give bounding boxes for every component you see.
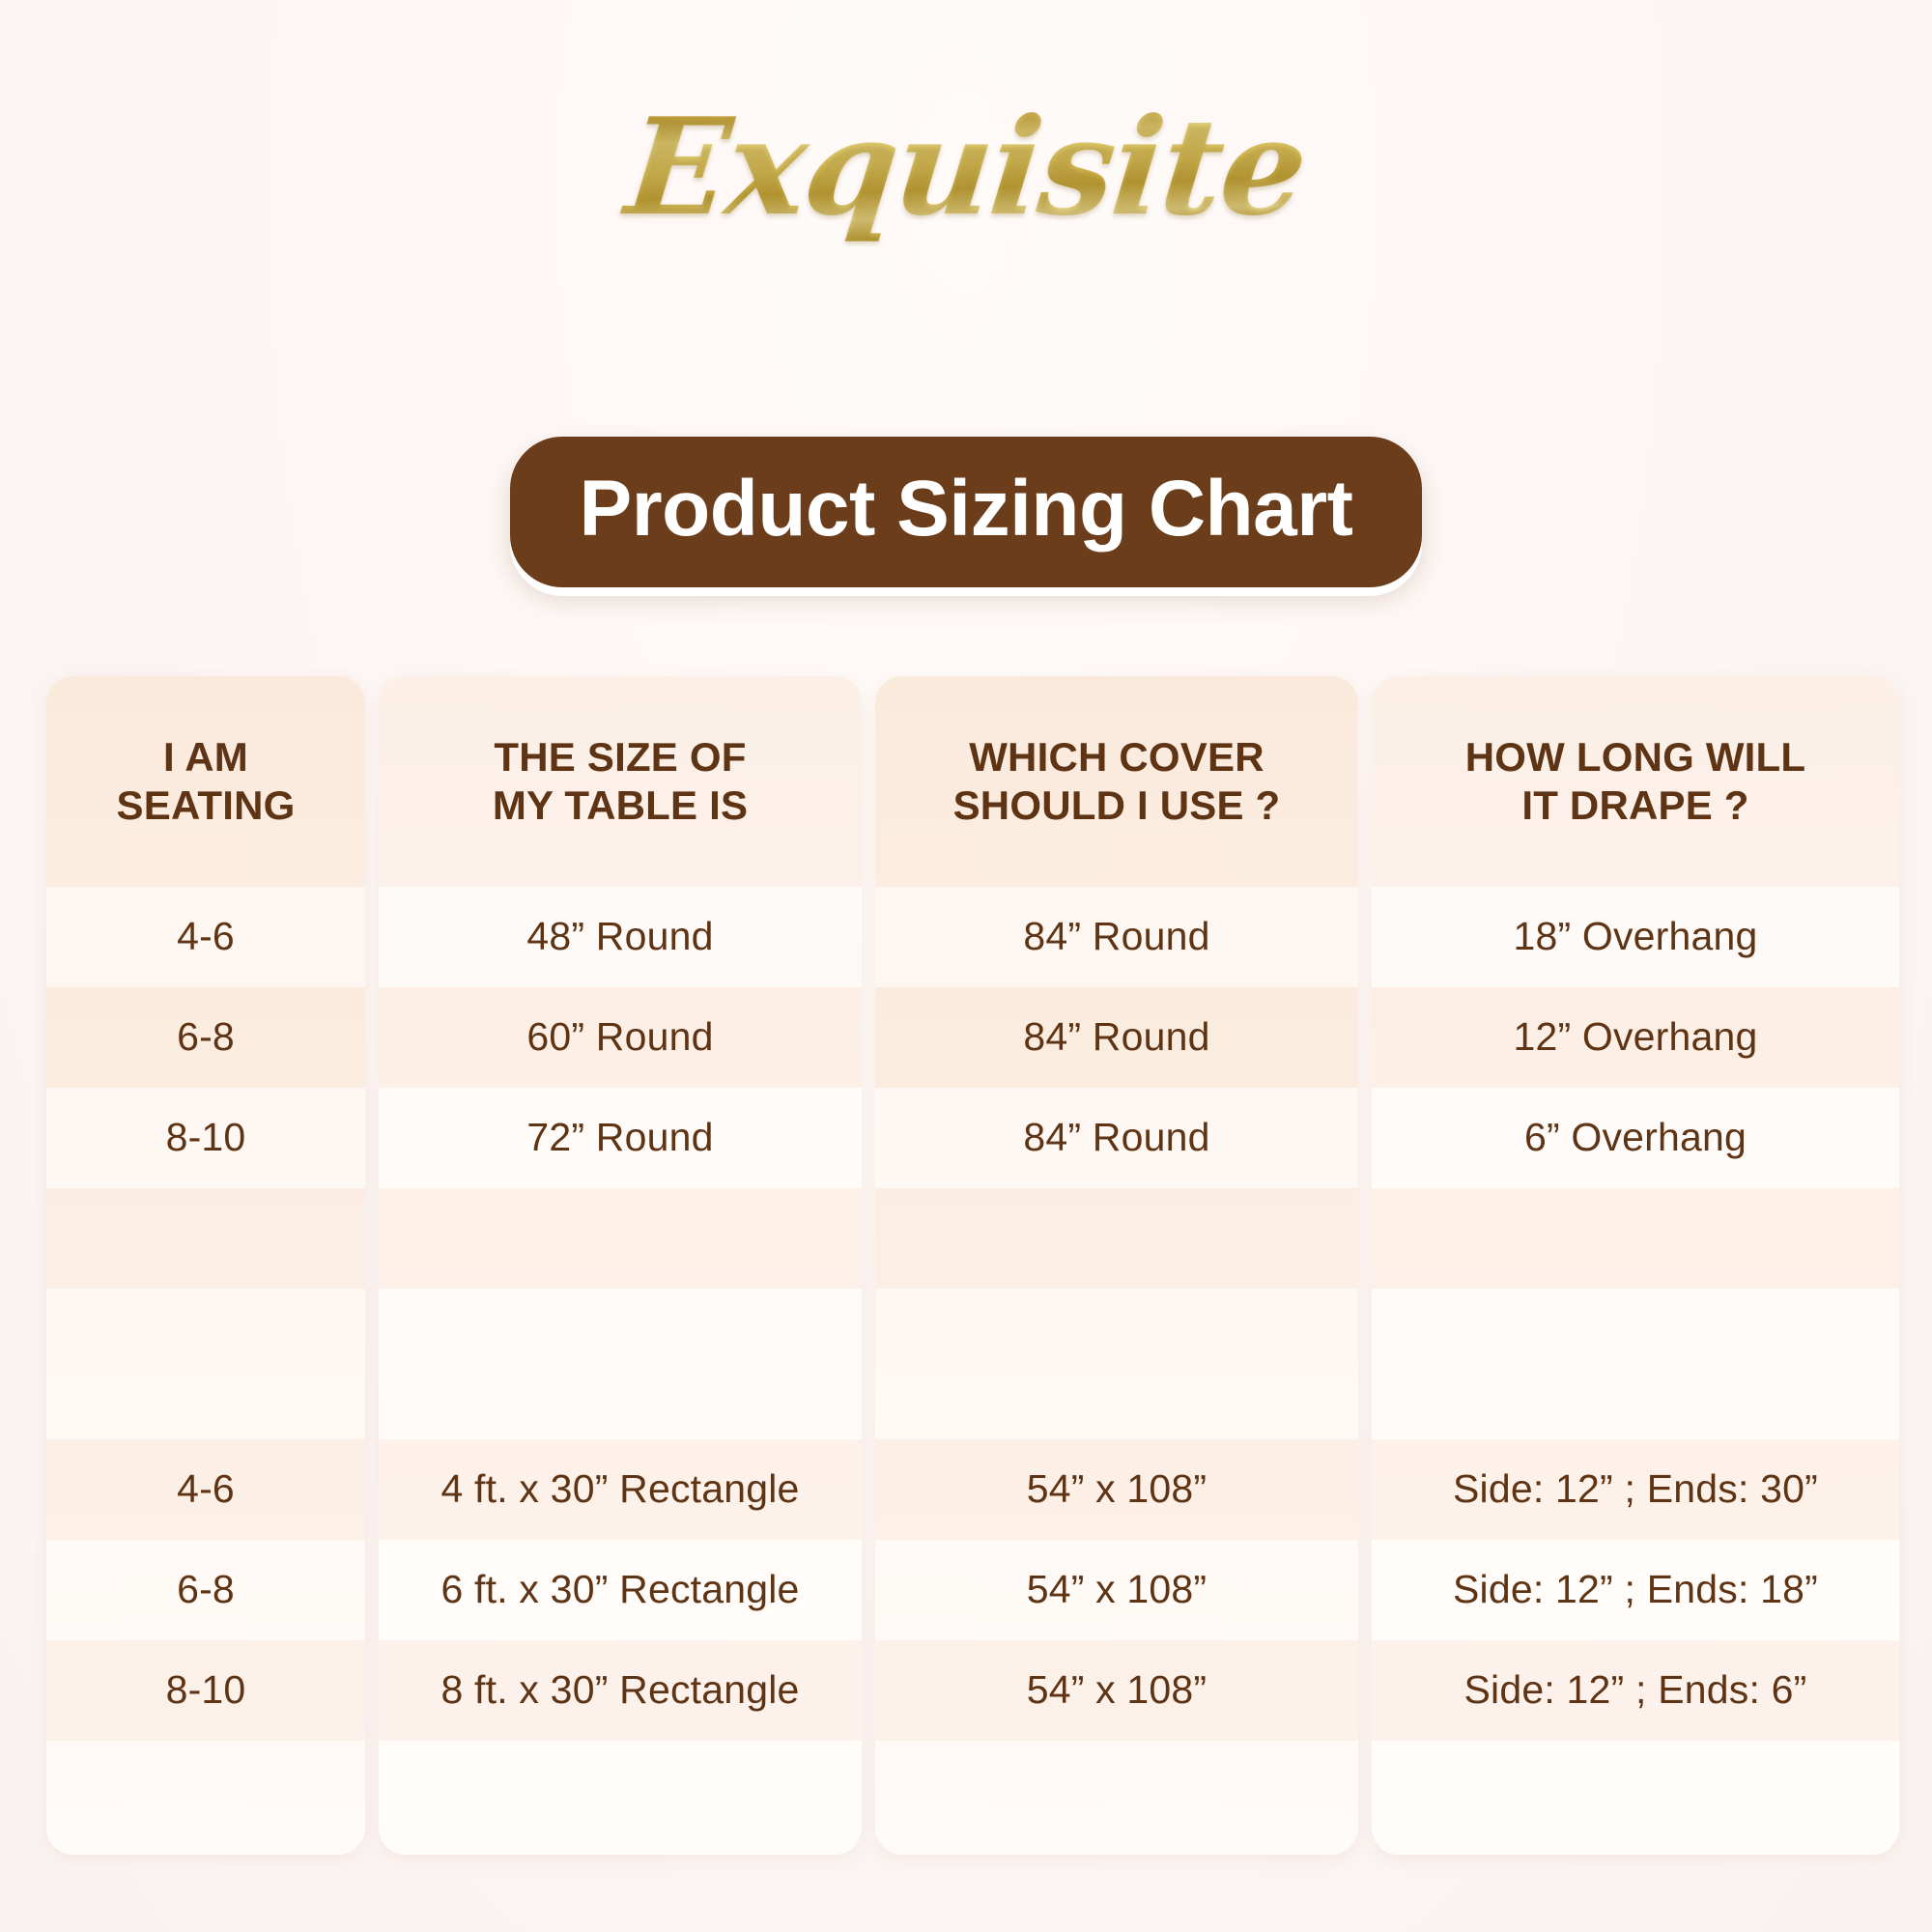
header-line-1: HOW LONG WILL	[1465, 734, 1806, 780]
column-header-table-size: THE SIZE OF MY TABLE IS	[379, 676, 862, 887]
table-cell: 8-10	[46, 1640, 365, 1741]
table-cell: 54” x 108”	[875, 1439, 1358, 1540]
table-cell: 84” Round	[875, 987, 1358, 1088]
column-header-seating: I AM SEATING	[46, 676, 365, 887]
table-spacer-row	[875, 1188, 1358, 1289]
brand-logo-container: Exquisite	[0, 93, 1932, 242]
header-line-2: SHOULD I USE ?	[953, 782, 1281, 828]
table-cell: 72” Round	[379, 1088, 862, 1188]
table-cell: 4-6	[46, 887, 365, 987]
sizing-chart-page: Exquisite Product Sizing Chart I AM SEAT…	[0, 0, 1932, 1932]
table-cell: Side: 12” ; Ends: 30”	[1372, 1439, 1899, 1540]
table-tail-row	[379, 1741, 862, 1855]
table-cell: 6-8	[46, 987, 365, 1088]
brand-logo-text: Exquisite	[611, 93, 1322, 242]
table-tail-row	[46, 1741, 365, 1855]
table-column-table-size: THE SIZE OF MY TABLE IS 48” Round 60” Ro…	[379, 676, 862, 1855]
table-tail-row	[1372, 1741, 1899, 1855]
header-line-1: I AM	[163, 734, 248, 780]
table-cell: 84” Round	[875, 1088, 1358, 1188]
header-line-2: IT DRAPE ?	[1521, 782, 1748, 828]
table-cell: 60” Round	[379, 987, 862, 1088]
table-cell: 54” x 108”	[875, 1540, 1358, 1640]
table-cell: 4 ft. x 30” Rectangle	[379, 1439, 862, 1540]
table-spacer-row	[379, 1188, 862, 1289]
table-cell: 6-8	[46, 1540, 365, 1640]
table-cell: Side: 12” ; Ends: 18”	[1372, 1540, 1899, 1640]
table-spacer-row	[46, 1188, 365, 1289]
table-cell: 18” Overhang	[1372, 887, 1899, 987]
table-column-cover: WHICH COVER SHOULD I USE ? 84” Round 84”…	[875, 676, 1358, 1855]
table-column-drape: HOW LONG WILL IT DRAPE ? 18” Overhang 12…	[1372, 676, 1899, 1855]
table-group-gap	[379, 1289, 862, 1439]
column-header-drape: HOW LONG WILL IT DRAPE ?	[1372, 676, 1899, 887]
table-cell: 6” Overhang	[1372, 1088, 1899, 1188]
page-title-container: Product Sizing Chart	[0, 437, 1932, 587]
column-header-cover: WHICH COVER SHOULD I USE ?	[875, 676, 1358, 887]
table-column-seating: I AM SEATING 4-6 6-8 8-10 4-6 6-8 8-10	[46, 676, 365, 1855]
header-line-1: THE SIZE OF	[494, 734, 746, 780]
table-cell: Side: 12” ; Ends: 6”	[1372, 1640, 1899, 1741]
table-group-gap	[875, 1289, 1358, 1439]
header-line-1: WHICH COVER	[969, 734, 1264, 780]
table-cell: 48” Round	[379, 887, 862, 987]
table-cell: 8-10	[46, 1088, 365, 1188]
table-group-gap	[1372, 1289, 1899, 1439]
table-cell: 8 ft. x 30” Rectangle	[379, 1640, 862, 1741]
table-cell: 54” x 108”	[875, 1640, 1358, 1741]
table-spacer-row	[1372, 1188, 1899, 1289]
header-line-2: SEATING	[117, 782, 296, 828]
table-group-gap	[46, 1289, 365, 1439]
table-cell: 4-6	[46, 1439, 365, 1540]
table-cell: 12” Overhang	[1372, 987, 1899, 1088]
page-title: Product Sizing Chart	[510, 437, 1423, 587]
table-tail-row	[875, 1741, 1358, 1855]
table-cell: 6 ft. x 30” Rectangle	[379, 1540, 862, 1640]
table-cell: 84” Round	[875, 887, 1358, 987]
sizing-table: I AM SEATING 4-6 6-8 8-10 4-6 6-8 8-10 T…	[46, 676, 1886, 1855]
header-line-2: MY TABLE IS	[493, 782, 748, 828]
